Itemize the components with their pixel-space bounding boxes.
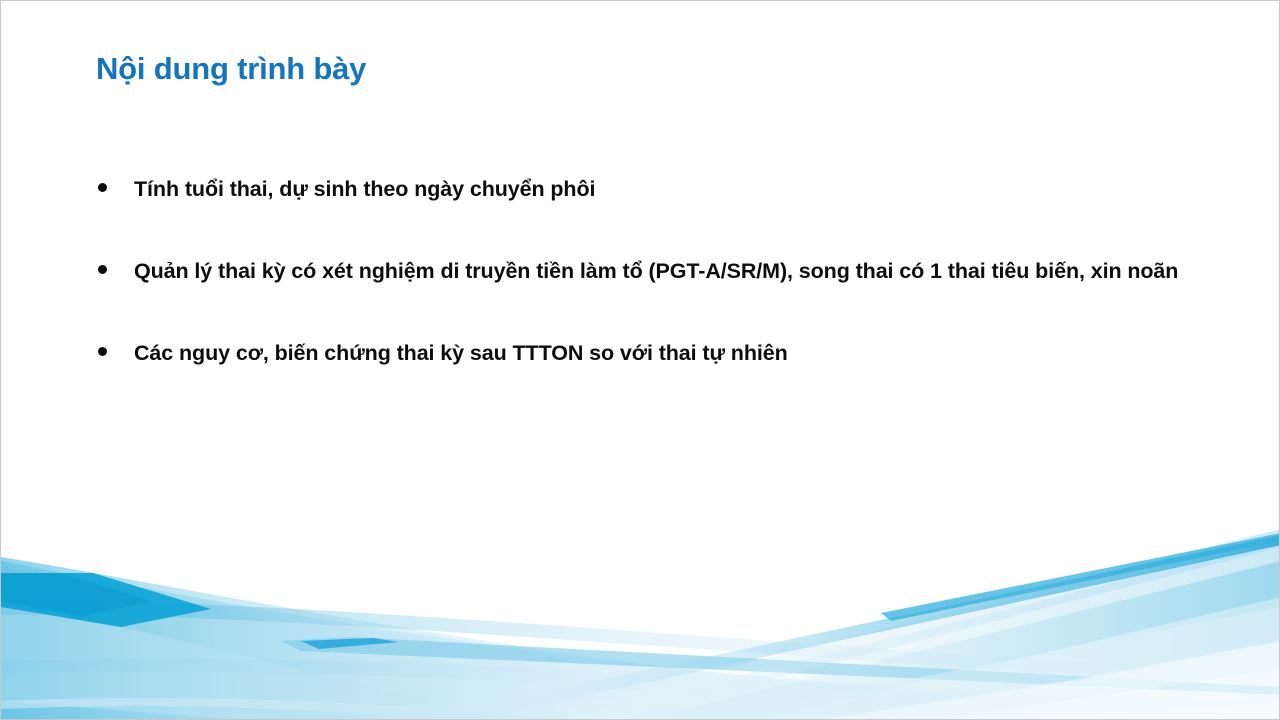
- bullet-dot-icon: [98, 347, 107, 356]
- list-item-label: Tính tuổi thai, dự sinh theo ngày chuyển…: [134, 161, 1211, 217]
- page-title: Nội dung trình bày: [96, 51, 366, 87]
- bullet-dot-icon: [98, 265, 107, 274]
- list-item-label: Các nguy cơ, biến chứng thai kỳ sau TTTO…: [134, 325, 1211, 381]
- slide: Nội dung trình bày Tính tuổi thai, dự si…: [0, 0, 1280, 720]
- bullet-dot-icon: [98, 183, 107, 192]
- list-item: Tính tuổi thai, dự sinh theo ngày chuyển…: [96, 161, 1211, 217]
- list-item: Các nguy cơ, biến chứng thai kỳ sau TTTO…: [96, 325, 1211, 381]
- list-item-label: Quản lý thai kỳ có xét nghiệm di truyền …: [134, 243, 1209, 299]
- list-item: Quản lý thai kỳ có xét nghiệm di truyền …: [96, 243, 1211, 299]
- content-list: Tính tuổi thai, dự sinh theo ngày chuyển…: [96, 161, 1211, 381]
